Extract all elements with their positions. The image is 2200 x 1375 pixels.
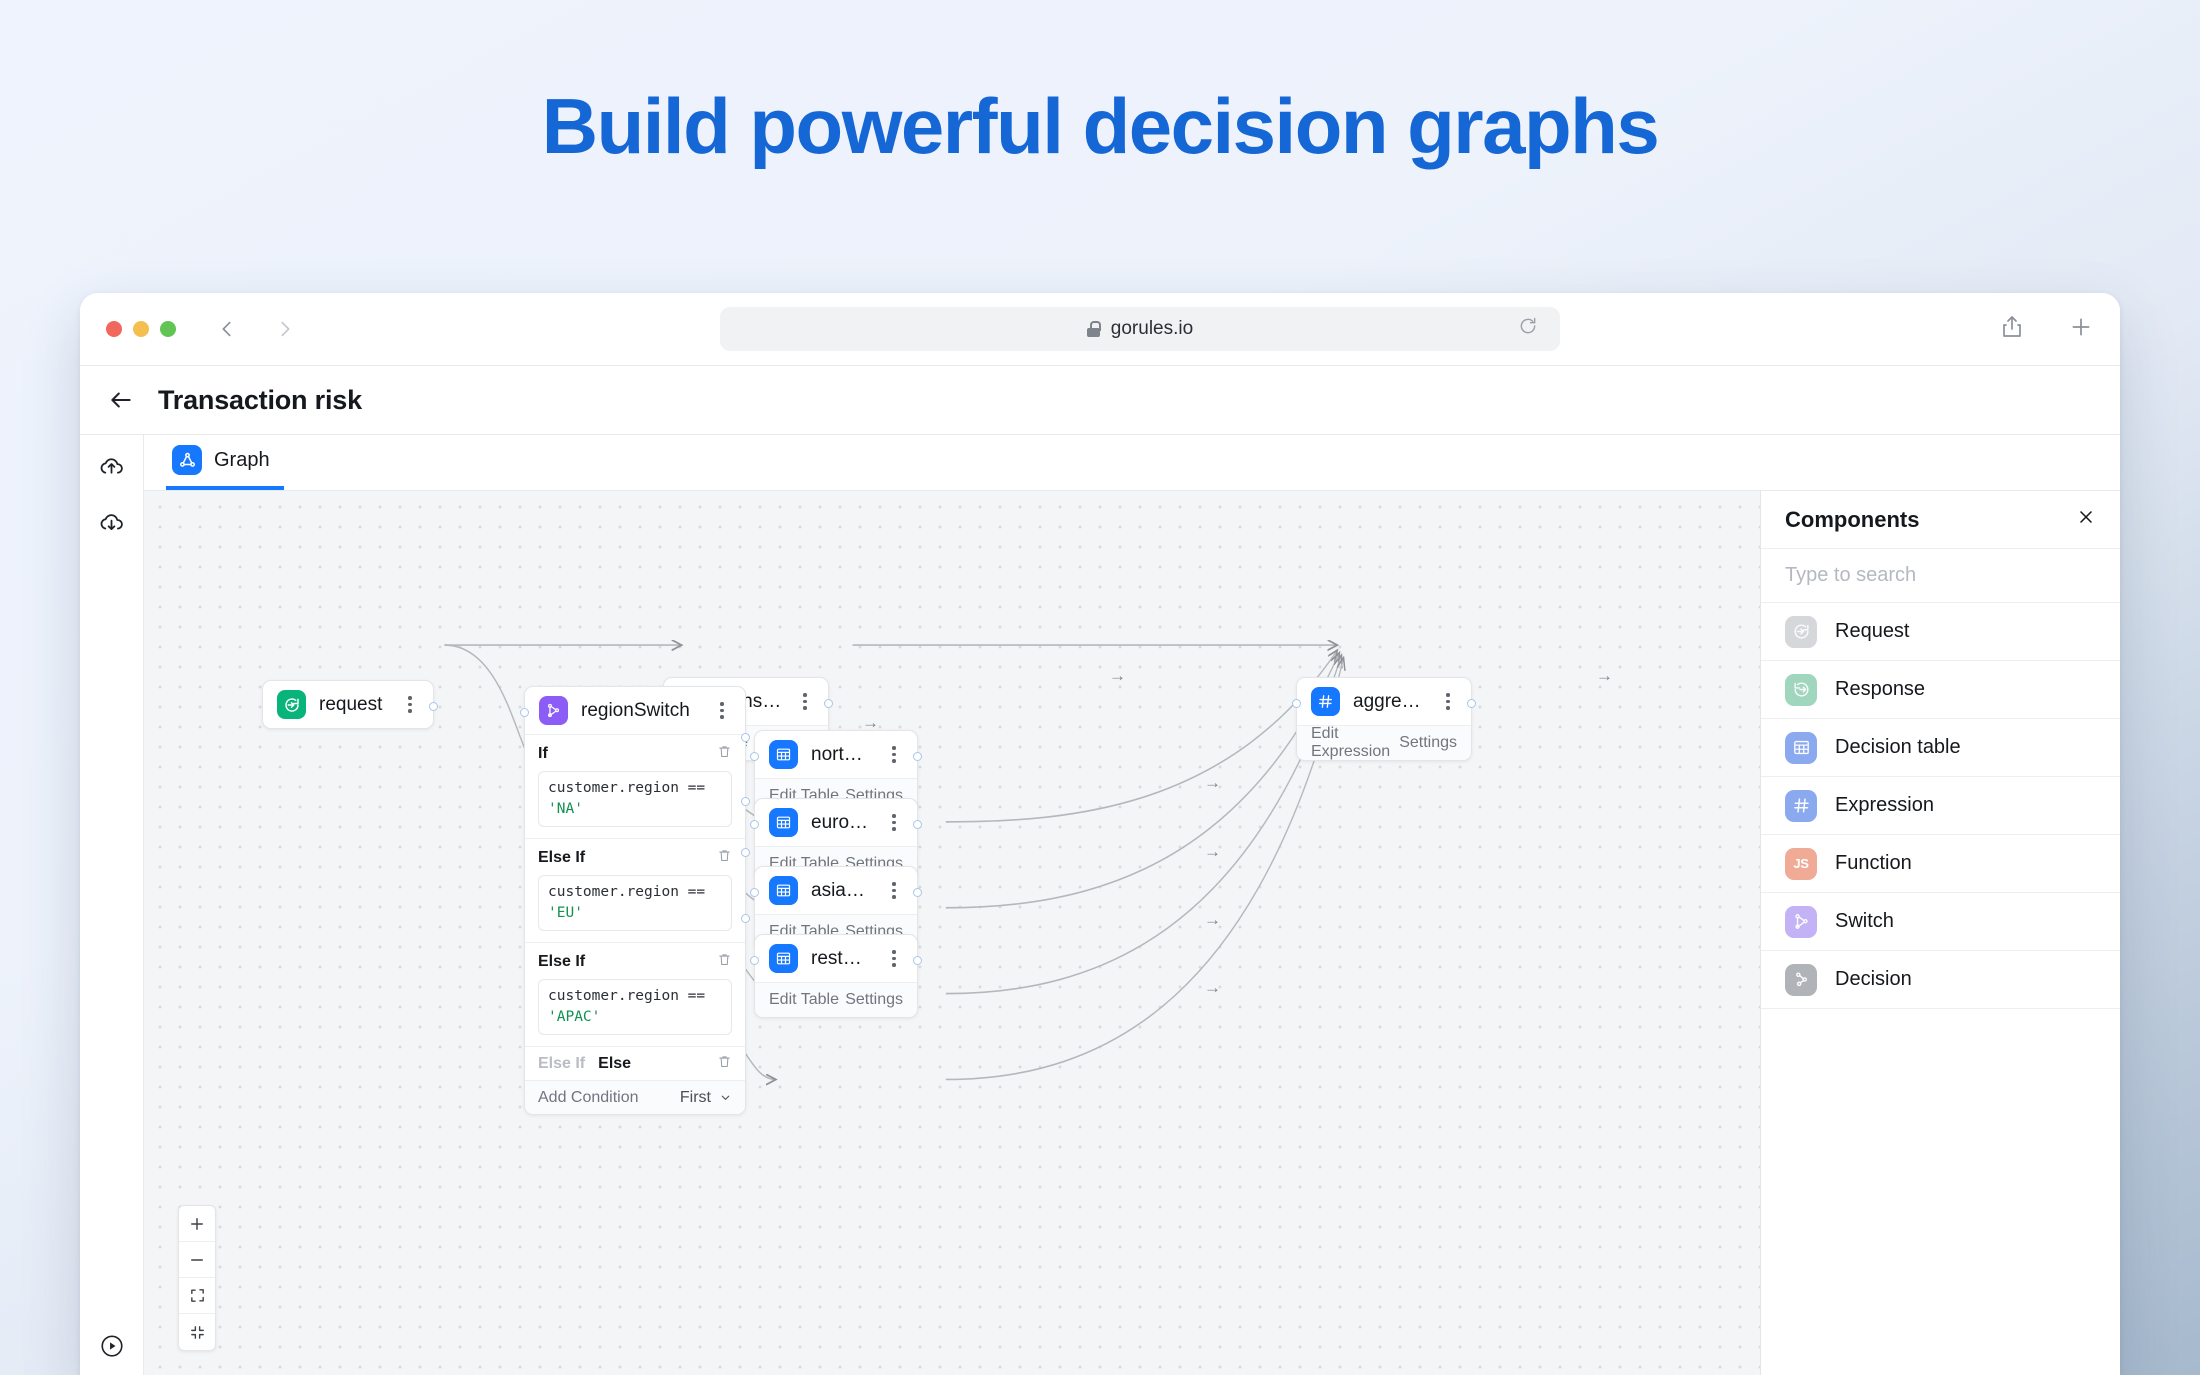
component-label: Decision: [1835, 968, 1912, 991]
delete-condition-icon[interactable]: [717, 848, 732, 868]
node-output-port[interactable]: [913, 752, 922, 761]
zoom-out-button[interactable]: [179, 1242, 215, 1278]
zoom-controls: [178, 1205, 216, 1351]
node-transactionrisk-output-port[interactable]: [824, 699, 833, 708]
rail-bottom-actions: [80, 1333, 143, 1359]
component-item-response[interactable]: Response: [1761, 661, 2120, 719]
delete-condition-icon[interactable]: [717, 744, 732, 764]
component-label: Decision table: [1835, 736, 1961, 759]
node-aggregator-label: aggregator: [1353, 691, 1426, 713]
else-label: Else: [598, 1055, 631, 1073]
component-label: Response: [1835, 678, 1925, 701]
node-restofworldrisk-header: restOfWorldRisk: [755, 935, 917, 982]
node-northamericarisk-label: northAmericaRisk: [811, 744, 872, 766]
expression-left: customer.region ==: [548, 780, 705, 796]
app-back-button[interactable]: [108, 387, 134, 413]
tab-graph-label: Graph: [214, 449, 270, 472]
fit-view-button[interactable]: [179, 1278, 215, 1314]
decision-table-icon: [769, 808, 798, 837]
node-request-label: request: [319, 694, 388, 716]
close-icon[interactable]: [2076, 507, 2096, 532]
app-body: Graph: [80, 435, 2120, 1375]
switch-condition-header: Else If: [538, 848, 732, 868]
js-icon: JS: [1785, 848, 1817, 880]
condition-label: If: [538, 745, 548, 763]
node-aggregator-menu[interactable]: [1439, 693, 1457, 710]
tab-graph[interactable]: Graph: [166, 434, 284, 490]
switch-else-row: Else If Else: [525, 1046, 745, 1080]
switch-condition-row: Else If customer.region == 'APAC': [525, 942, 745, 1046]
node-aggregator-header: aggregator: [1297, 678, 1471, 725]
condition-expression[interactable]: customer.region == 'NA': [538, 771, 732, 827]
node-europeanunionrisk-menu[interactable]: [885, 814, 903, 831]
new-tab-plus-icon[interactable]: [2068, 314, 2094, 345]
expression-left: customer.region ==: [548, 988, 705, 1004]
delete-condition-icon[interactable]: [717, 952, 732, 972]
components-panel-header: Components: [1761, 491, 2120, 549]
node-output-port[interactable]: [913, 888, 922, 897]
page-title: Transaction risk: [158, 385, 362, 416]
switch-condition-row: Else If customer.region == 'EU': [525, 838, 745, 942]
switch-output-port-else[interactable]: [741, 914, 750, 923]
collapse-view-button[interactable]: [179, 1314, 215, 1350]
node-aggregator-input-port[interactable]: [1292, 699, 1301, 708]
left-rail: [80, 435, 144, 1375]
close-window-button[interactable]: [106, 321, 122, 337]
edge-arrow-marker: →: [1204, 843, 1221, 860]
node-input-port[interactable]: [750, 820, 759, 829]
decision-table-icon: [769, 740, 798, 769]
component-label: Switch: [1835, 910, 1894, 933]
component-item-request[interactable]: Request: [1761, 603, 2120, 661]
response-icon: [1785, 674, 1817, 706]
edge-arrow-marker: →: [1204, 774, 1221, 791]
node-restofworldrisk-menu[interactable]: [885, 950, 903, 967]
switch-output-port-1[interactable]: [741, 733, 750, 742]
node-regionswitch-label: regionSwitch: [581, 700, 700, 722]
node-output-port[interactable]: [913, 820, 922, 829]
chevron-down-icon: [719, 1091, 732, 1104]
edge-arrow-marker: →: [862, 714, 879, 731]
node-restofworldrisk-footer: Edit Table Settings: [755, 982, 917, 1017]
node-restofworldrisk[interactable]: restOfWorldRisk Edit Table Settings: [754, 934, 918, 1018]
components-panel-title: Components: [1785, 507, 1919, 533]
cloud-download-icon[interactable]: [98, 510, 125, 537]
browser-back-button[interactable]: [210, 312, 244, 346]
components-panel: Components Type to search Request: [1760, 491, 2120, 1375]
app-content: Graph: [144, 435, 2120, 1375]
switch-mode-value: First: [680, 1089, 711, 1107]
address-bar[interactable]: gorules.io: [720, 307, 1560, 351]
maximize-window-button[interactable]: [160, 321, 176, 337]
decision-table-icon: [1785, 732, 1817, 764]
graph-canvas[interactable]: → → → → → → → request: [144, 491, 1760, 1375]
node-request[interactable]: request: [262, 680, 434, 729]
decision-table-icon: [769, 944, 798, 973]
request-icon: [1785, 616, 1817, 648]
tab-bar: Graph: [144, 435, 2120, 491]
node-output-port[interactable]: [913, 956, 922, 965]
app-header: Transaction risk: [80, 365, 2120, 435]
cloud-upload-icon[interactable]: [98, 453, 125, 480]
reload-icon[interactable]: [1518, 316, 1538, 342]
condition-expression[interactable]: customer.region == 'APAC': [538, 979, 732, 1035]
workspace: → → → → → → → request: [144, 491, 2120, 1375]
node-regionswitch-input-port[interactable]: [520, 708, 529, 717]
node-input-port[interactable]: [750, 752, 759, 761]
node-northamericarisk-menu[interactable]: [885, 746, 903, 763]
decision-table-icon: [769, 876, 798, 905]
condition-expression[interactable]: customer.region == 'EU': [538, 875, 732, 931]
expression-value: 'EU': [548, 905, 583, 921]
settings-link[interactable]: Settings: [1399, 734, 1457, 752]
switch-icon: [539, 696, 568, 725]
decision-icon: [1785, 964, 1817, 996]
switch-output-port-3[interactable]: [741, 848, 750, 857]
node-request-header: request: [263, 681, 433, 728]
component-item-switch[interactable]: Switch: [1761, 893, 2120, 951]
share-icon[interactable]: [2000, 314, 2024, 345]
edge-arrow-marker: →: [1109, 667, 1126, 684]
switch-icon: [1785, 906, 1817, 938]
lock-icon: [1087, 321, 1100, 337]
node-asiapacificrisk-label: asiaPacificRisk: [811, 880, 872, 902]
components-search-placeholder: Type to search: [1785, 564, 1916, 587]
edge-arrow-marker: →: [1596, 667, 1613, 684]
component-label: Function: [1835, 852, 1912, 875]
edge-arrow-marker: →: [1204, 911, 1221, 928]
component-item-decision-table[interactable]: Decision table: [1761, 719, 2120, 777]
condition-label: Else If: [538, 849, 585, 867]
zoom-in-button[interactable]: [179, 1206, 215, 1242]
component-item-decision[interactable]: Decision: [1761, 951, 2120, 1009]
browser-forward-button[interactable]: [268, 312, 302, 346]
edit-table-link[interactable]: Edit Table: [769, 991, 839, 1009]
node-aggregator-footer: Edit Expression Settings: [1297, 725, 1471, 760]
node-aggregator-output-port[interactable]: [1467, 699, 1476, 708]
node-request-output-port[interactable]: [429, 702, 438, 711]
graph-edges: [144, 491, 1760, 1375]
add-condition-button[interactable]: Add Condition: [538, 1089, 639, 1107]
switch-condition-header: Else If: [538, 952, 732, 972]
node-request-menu[interactable]: [401, 696, 419, 713]
condition-label: Else If: [538, 953, 585, 971]
edge-arrow-marker: →: [1204, 979, 1221, 996]
expression-value: 'APAC': [548, 1009, 600, 1025]
edit-expression-link[interactable]: Edit Expression: [1311, 725, 1399, 761]
node-northamericarisk-header: northAmericaRisk: [755, 731, 917, 778]
switch-footer: Add Condition First: [525, 1080, 745, 1114]
switch-condition-header: If: [538, 744, 732, 764]
component-item-function[interactable]: JS Function: [1761, 835, 2120, 893]
play-circle-icon[interactable]: [99, 1333, 125, 1359]
node-input-port[interactable]: [750, 888, 759, 897]
expression-left: customer.region ==: [548, 884, 705, 900]
settings-link[interactable]: Settings: [845, 991, 903, 1009]
components-search-input[interactable]: Type to search: [1761, 549, 2120, 603]
page-headline: Build powerful decision graphs: [0, 84, 2200, 170]
node-europeanunionrisk-header: europeanUnionR...: [755, 799, 917, 846]
node-asiapacificrisk-menu[interactable]: [885, 882, 903, 899]
node-regionswitch-header: regionSwitch: [525, 687, 745, 734]
node-input-port[interactable]: [750, 956, 759, 965]
expression-icon: [1311, 687, 1340, 716]
node-transactionrisk-menu[interactable]: [796, 693, 814, 710]
window-traffic-lights: [106, 321, 176, 337]
expression-value: 'NA': [548, 801, 583, 817]
else-if-placeholder: Else If: [538, 1055, 585, 1073]
browser-chrome-bar: gorules.io: [80, 293, 2120, 365]
url-text: gorules.io: [1111, 318, 1193, 340]
browser-window: gorules.io Transaction risk: [80, 293, 2120, 1375]
node-europeanunionrisk-label: europeanUnionR...: [811, 812, 872, 834]
request-icon: [277, 690, 306, 719]
switch-mode-select[interactable]: First: [680, 1089, 732, 1107]
decision-graph-icon: [172, 445, 202, 475]
component-label: Request: [1835, 620, 1910, 643]
node-restofworldrisk-label: restOfWorldRisk: [811, 948, 872, 970]
minimize-window-button[interactable]: [133, 321, 149, 337]
node-regionswitch[interactable]: regionSwitch If: [524, 686, 746, 1115]
expression-icon: [1785, 790, 1817, 822]
delete-condition-icon[interactable]: [717, 1054, 732, 1074]
component-item-expression[interactable]: Expression: [1761, 777, 2120, 835]
node-aggregator[interactable]: aggregator Edit Expression Settings: [1296, 677, 1472, 761]
switch-condition-row: If customer.region == 'NA': [525, 734, 745, 838]
chrome-right-actions: [2000, 314, 2094, 345]
component-label: Expression: [1835, 794, 1934, 817]
node-asiapacificrisk-header: asiaPacificRisk: [755, 867, 917, 914]
node-regionswitch-menu[interactable]: [713, 702, 731, 719]
switch-output-port-2[interactable]: [741, 797, 750, 806]
